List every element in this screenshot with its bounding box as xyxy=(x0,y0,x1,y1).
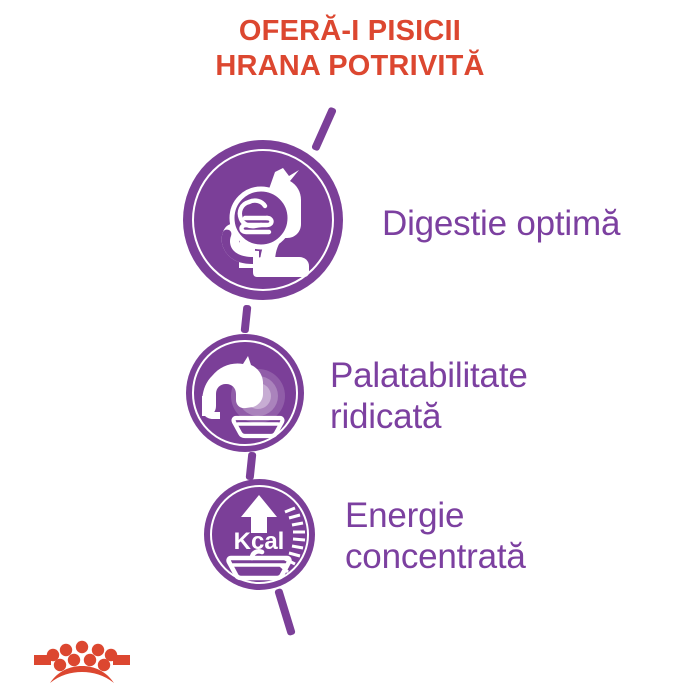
cat-digestive-system-icon xyxy=(183,140,343,300)
royal-canin-crown-logo xyxy=(34,634,130,690)
page-title-line-2: HRANA POTRIVITĂ xyxy=(0,49,700,84)
feature-digestive-health: Digestie optimă xyxy=(0,0,700,700)
page-title-line-1: OFERĂ-I PISICII xyxy=(0,14,700,49)
feature-caption-digestive-health: Digestie optimă xyxy=(382,203,692,244)
feature-caption-palatability: Palatabilitate ridicată xyxy=(330,355,660,437)
connector-dash-bottom xyxy=(274,588,296,636)
feature-palatability: Palatabilitate ridicată xyxy=(0,0,700,700)
badge-inner-ring xyxy=(210,485,309,584)
feature-energy: Kcal Energie concentrată xyxy=(0,0,700,700)
kcal-label: Kcal xyxy=(234,528,285,555)
poster-canvas: OFERĂ-I PISICII HRANA POTRIVITĂ xyxy=(0,0,700,700)
connector-dash-2-3 xyxy=(246,452,257,481)
badge-inner-ring xyxy=(192,340,297,445)
connector-dash-top xyxy=(311,106,337,151)
badge-inner-ring xyxy=(192,149,334,291)
connector-dash-1-2 xyxy=(241,305,252,334)
kcal-arrow-bowl-gauge-icon: Kcal xyxy=(204,479,315,590)
page-title: OFERĂ-I PISICII HRANA POTRIVITĂ xyxy=(0,14,700,84)
feature-caption-energy: Energie concentrată xyxy=(345,495,685,577)
cat-eating-bowl-aroma-icon xyxy=(186,334,304,452)
